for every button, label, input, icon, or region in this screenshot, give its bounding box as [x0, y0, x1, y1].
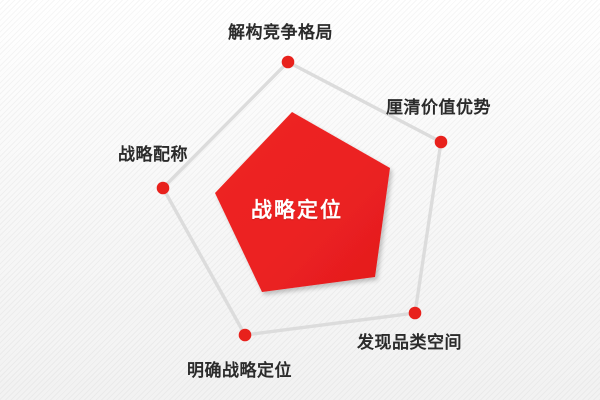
center-pentagon-label: 战略定位 — [251, 194, 343, 224]
node-dot-left[interactable] — [157, 182, 170, 195]
node-label-lower-right[interactable]: 发现品类空间 — [357, 334, 462, 353]
node-dot-lower-right[interactable] — [409, 307, 422, 320]
node-label-lower-left[interactable]: 明确战略定位 — [187, 362, 292, 381]
diagram-canvas: 解构竞争格局 厘清价值优势 发现品类空间 明确战略定位 战略配称 战略定位 — [0, 0, 600, 400]
node-dot-upper-right[interactable] — [435, 136, 448, 149]
node-dot-top[interactable] — [282, 56, 295, 69]
node-label-top[interactable]: 解构竞争格局 — [228, 24, 333, 43]
node-dot-lower-left[interactable] — [239, 329, 252, 342]
node-label-upper-right[interactable]: 厘清价值优势 — [386, 99, 491, 118]
node-label-left[interactable]: 战略配称 — [118, 146, 188, 165]
